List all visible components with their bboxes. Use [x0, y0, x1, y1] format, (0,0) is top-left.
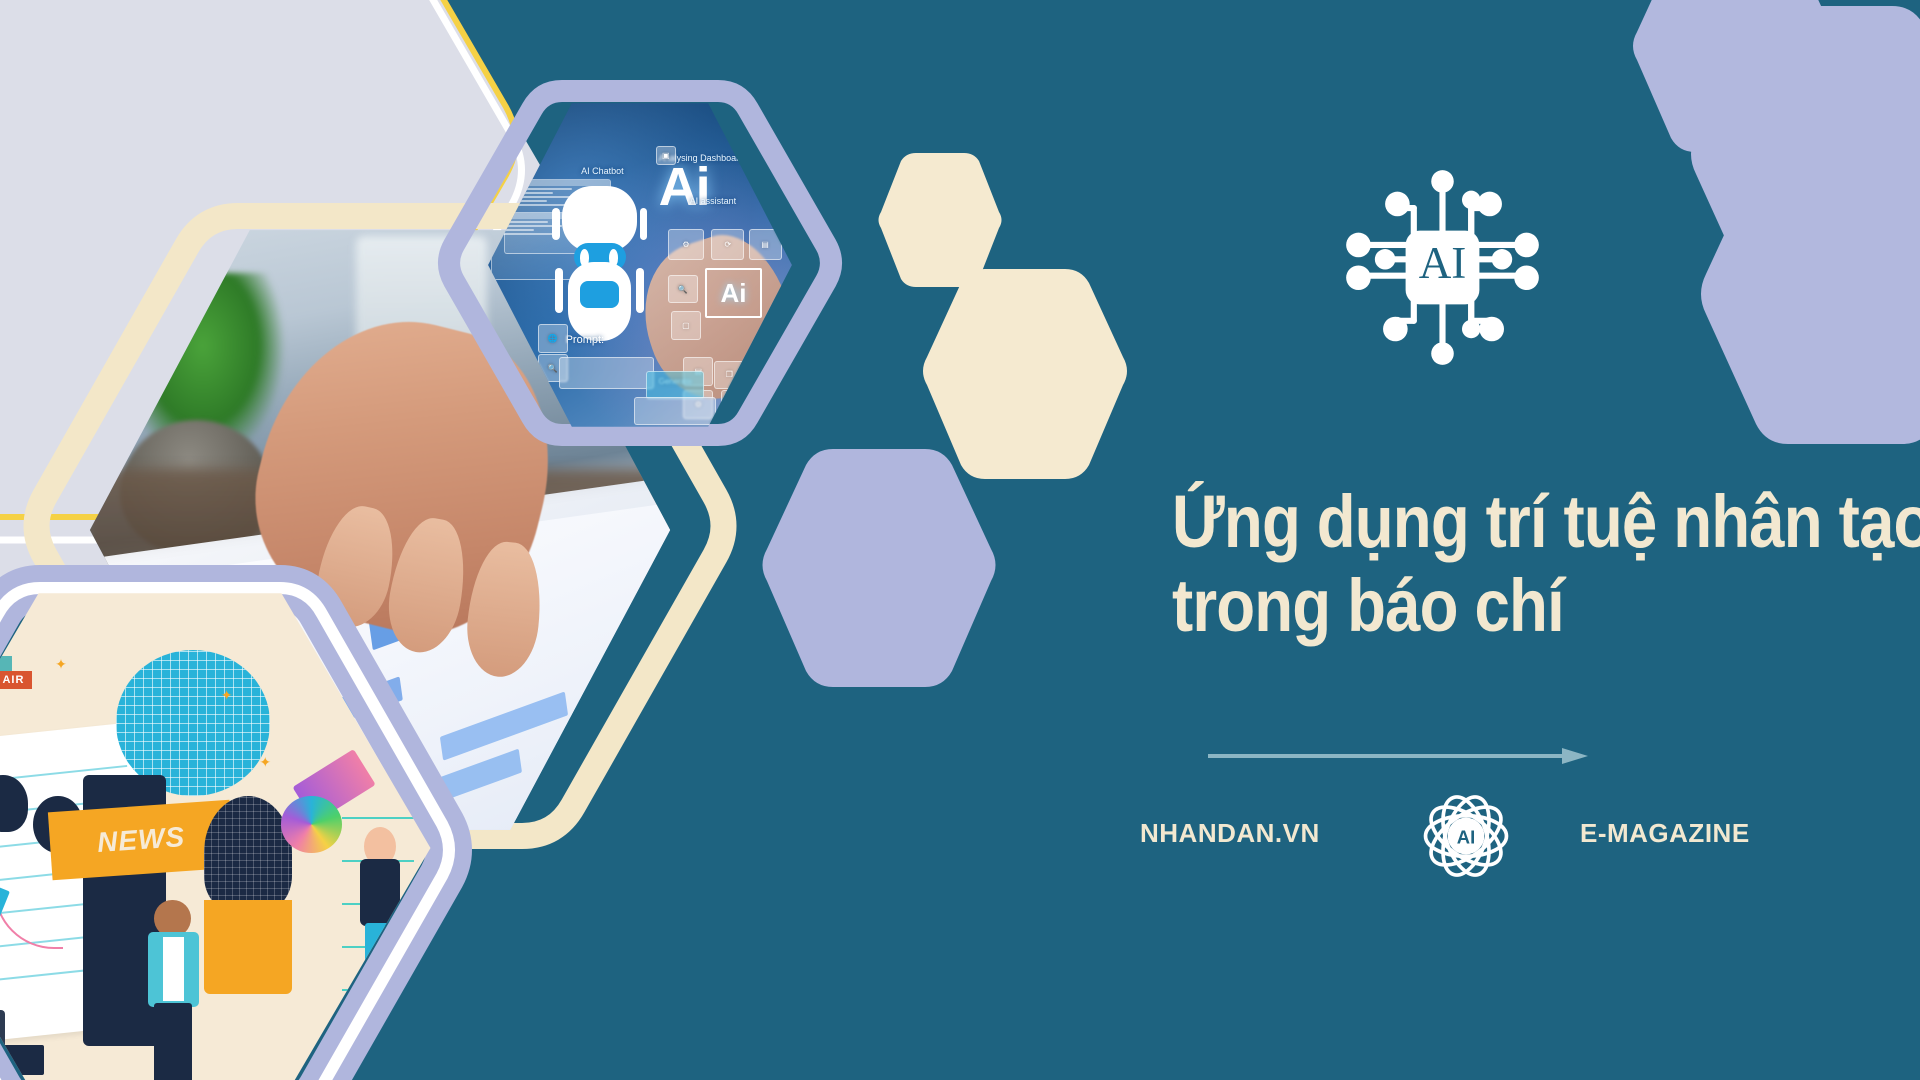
sparkle-5: ✦: [259, 754, 271, 771]
label-prompt: Prompt:: [566, 334, 605, 346]
ai-atom-logo: AI: [1420, 790, 1512, 882]
atom-logo-label: AI: [1457, 826, 1475, 847]
ai-hologram-text: Ai: [659, 156, 709, 218]
person-reporter: [143, 900, 204, 1080]
ai-chip-label: AI: [1419, 238, 1467, 288]
document-chip-icon: ▢: [671, 311, 701, 339]
chip-cpu-icon: ▣: [656, 146, 677, 165]
ai-box-icon: Ai: [705, 268, 762, 318]
generate-button[interactable]: [646, 371, 704, 399]
title-line-1: Ứng dụng trí tuệ nhân tạo: [1172, 480, 1826, 564]
sparkle-1: ✦: [55, 656, 67, 673]
sparkle-4: ✦: [221, 687, 233, 704]
speech-bubble: [116, 650, 271, 796]
ai-chip-icon: AI: [1340, 165, 1545, 370]
microphone-secondary: [204, 796, 292, 910]
poster-canvas: Ai AI Chatbot AI assistant Analysing Das…: [0, 0, 1920, 1080]
gear-chip-icon: ⚙: [668, 229, 704, 261]
robot-avatar-icon: [553, 186, 646, 344]
prompt-field[interactable]: [559, 357, 654, 389]
label-chatbot: AI Chatbot: [581, 166, 624, 176]
arrow-right-icon: [1208, 748, 1588, 764]
title-line-2: trong báo chí: [1172, 564, 1826, 648]
footer: NHANDAN.VN AI E-MAGAZINE: [1140, 790, 1840, 880]
search-chip-icon: 🔍: [668, 275, 698, 303]
label-assistant: AI assistant: [690, 196, 737, 206]
page-title: Ứng dụng trí tuệ nhân tạo trong báo chí: [1172, 480, 1826, 649]
waveform-panel: [634, 397, 717, 425]
hex-periwinkle-mid: [765, 445, 995, 695]
news-sign-label: NEWS: [96, 821, 186, 859]
site-name[interactable]: NHANDAN.VN: [1140, 818, 1320, 849]
left-artwork-panel: Ai AI Chatbot AI assistant Analysing Das…: [0, 0, 820, 1080]
color-wheel-icon: [281, 796, 342, 853]
globe-chip-icon: 🌐: [538, 324, 568, 352]
format-label[interactable]: E-MAGAZINE: [1580, 818, 1750, 849]
refresh-chip-icon: ⟳: [711, 229, 744, 261]
microphone-stand: [204, 900, 292, 994]
on-air-badge: ON AIR: [0, 671, 32, 689]
hex-periwinkle-right-bottom: [1700, 140, 1920, 450]
